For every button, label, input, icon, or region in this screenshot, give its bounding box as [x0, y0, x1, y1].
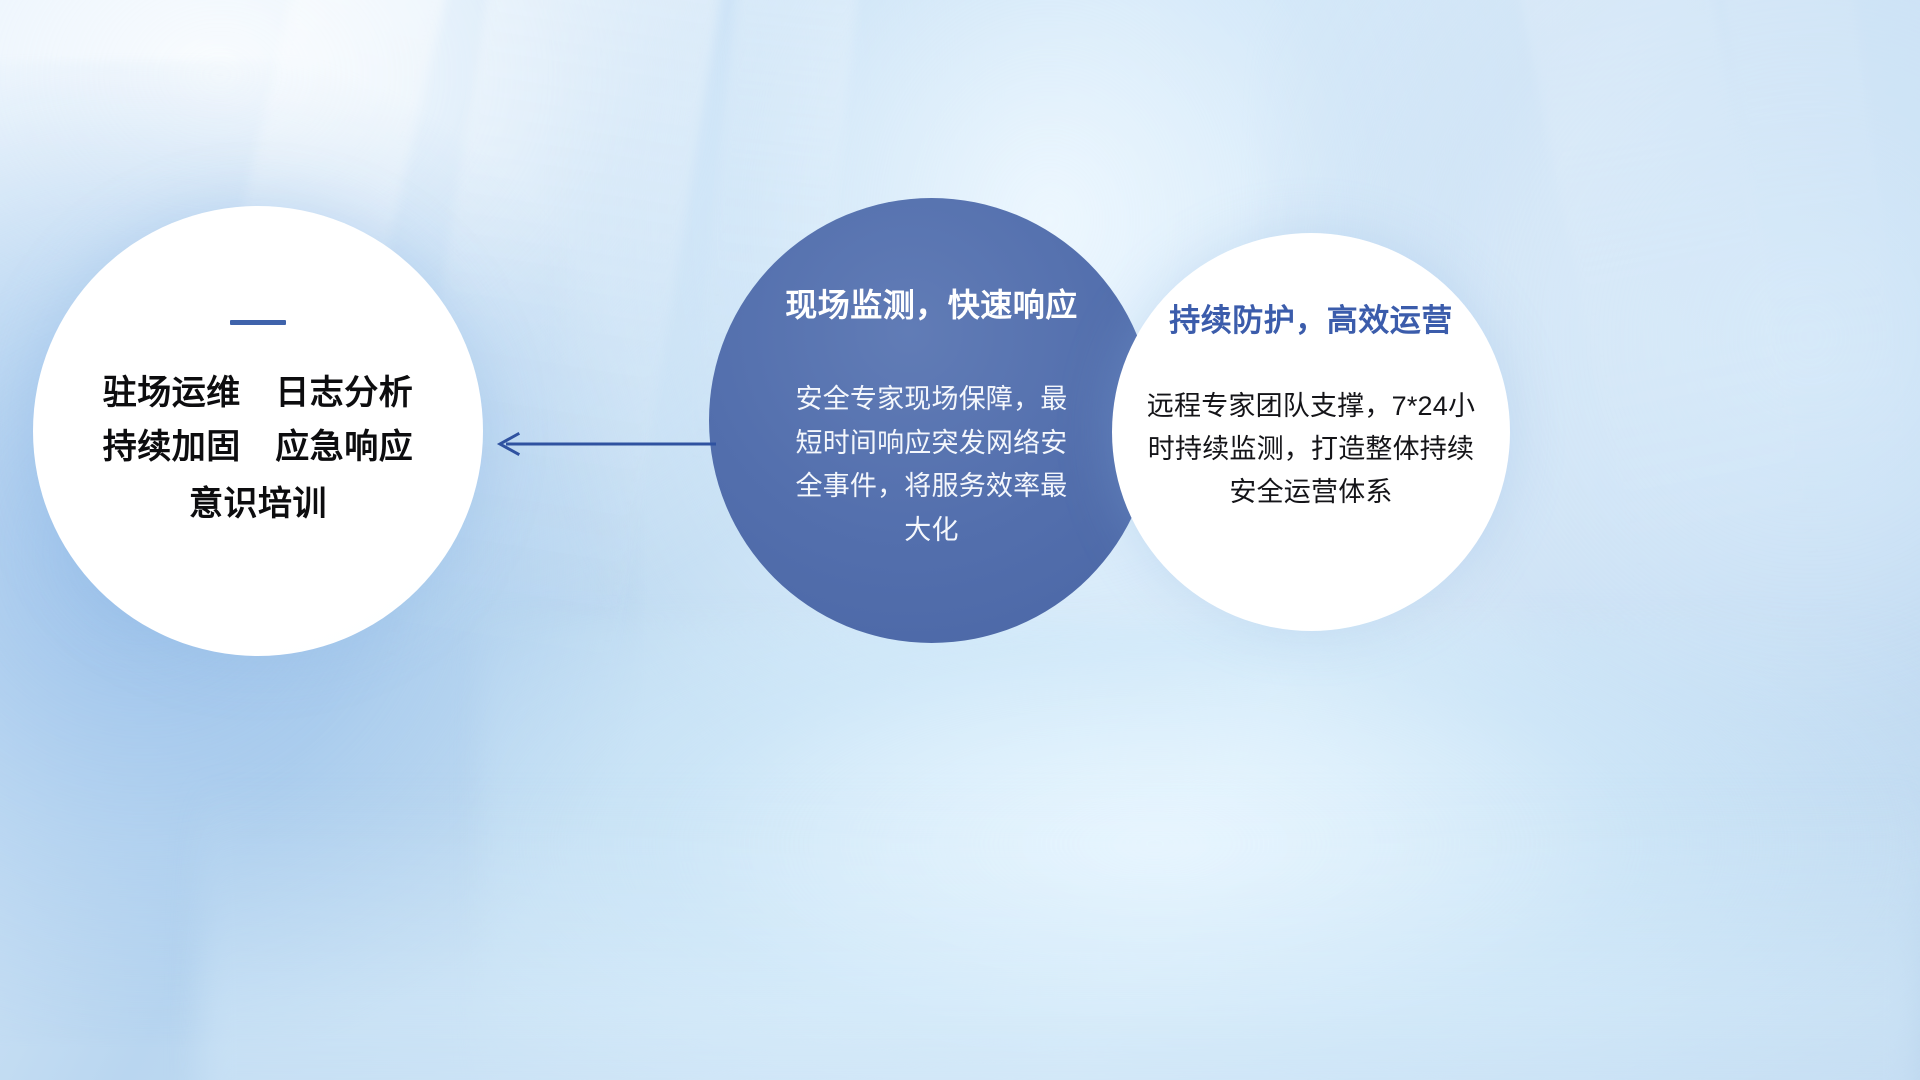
diagram-canvas: 驻场运维 日志分析 持续加固 应急响应 意识培训 现场监测，快速响应 安全专家现…: [0, 0, 1920, 1080]
remote-title: 持续防护，高效运营: [1169, 295, 1453, 340]
arrow-left-icon: [492, 424, 717, 464]
background-streak-bottom: [200, 780, 1920, 1080]
onsite-title: 现场监测，快速响应: [785, 280, 1078, 326]
remote-body: 远程专家团队支撑，7*24小时持续监测，打造整体持续安全运营体系: [1141, 385, 1481, 515]
capability-line-3: 意识培训: [103, 478, 414, 532]
capability-line-1: 驻场运维 日志分析: [103, 367, 414, 421]
capability-line-2: 持续加固 应急响应: [103, 421, 414, 475]
capability-list: 驻场运维 日志分析 持续加固 应急响应 意识培训: [103, 367, 414, 532]
onsite-body: 安全专家现场保障，最短时间响应突发网络安全事件，将服务效率最大化: [789, 378, 1074, 553]
flow-arrow-left: [492, 424, 717, 464]
service-circle-onsite: 现场监测，快速响应 安全专家现场保障，最短时间响应突发网络安全事件，将服务效率最…: [709, 198, 1154, 643]
title-divider-dash: [230, 320, 286, 325]
capability-circle-left: 驻场运维 日志分析 持续加固 应急响应 意识培训: [33, 206, 483, 656]
service-circle-remote: 持续防护，高效运营 远程专家团队支撑，7*24小时持续监测，打造整体持续安全运营…: [1112, 233, 1510, 631]
